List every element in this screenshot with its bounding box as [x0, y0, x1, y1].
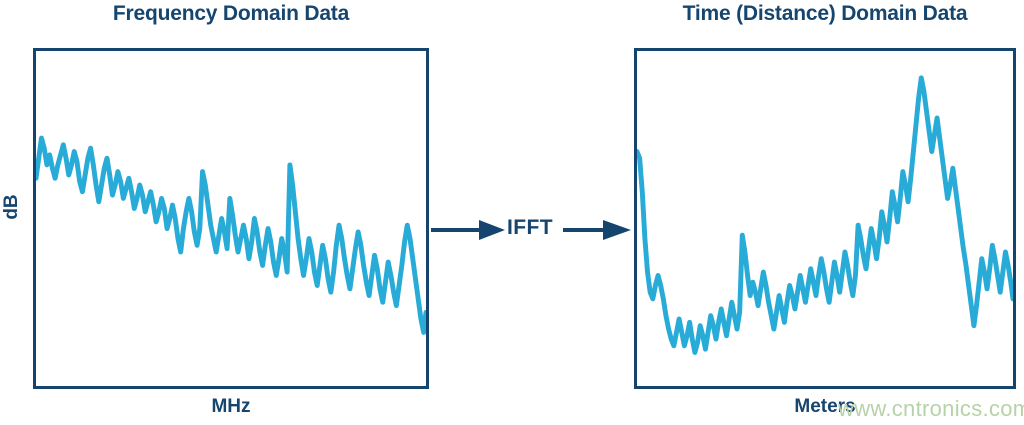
x-axis-label-mhz: MHz — [33, 396, 429, 418]
ifft-label: IFFT — [507, 216, 553, 240]
time-domain-trace-svg — [637, 51, 1013, 386]
chart-frequency-domain — [33, 48, 429, 389]
ifft-figure: Frequency Domain Data MHz dB IFFT Time (… — [0, 0, 1024, 425]
page-title-frequency-domain: Frequency Domain Data — [33, 2, 429, 26]
frequency-domain-trace-svg — [36, 51, 426, 386]
watermark: www.cntronics.com — [838, 396, 1024, 422]
time-domain-trace — [637, 78, 1013, 353]
page-title-time-distance-domain: Time (Distance) Domain Data — [634, 2, 1016, 26]
chart-time-distance-domain — [634, 48, 1016, 389]
ifft-transform-group: IFFT — [429, 208, 634, 252]
arrow-right-icon-right — [563, 220, 631, 240]
arrow-right-icon-left — [431, 220, 505, 240]
frequency-domain-trace — [36, 138, 426, 332]
y-axis-label-db: dB — [1, 177, 23, 237]
